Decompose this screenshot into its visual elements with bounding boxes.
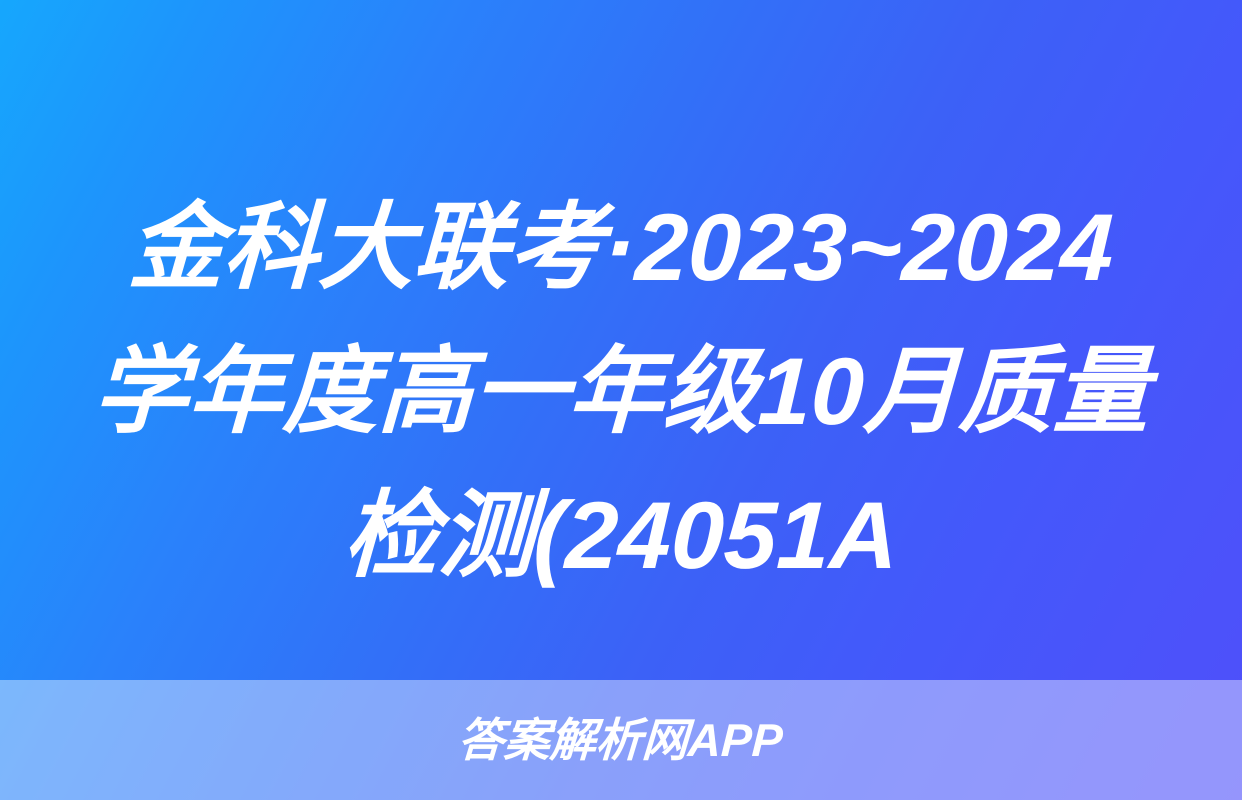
title-line-1: 金科大联考·2023~2024: [75, 176, 1166, 320]
watermark-band: 答案解析网APP: [0, 680, 1242, 800]
title-line-3: 检测(24051A: [75, 464, 1166, 608]
watermark-app-label: 答案解析网APP: [456, 717, 783, 763]
title-line-2: 学年度高一年级10月质量: [75, 320, 1166, 464]
exam-title-card: 金科大联考·2023~2024 学年度高一年级10月质量 检测(24051A 答…: [0, 0, 1242, 800]
page-title: 金科大联考·2023~2024 学年度高一年级10月质量 检测(24051A: [0, 176, 1242, 608]
